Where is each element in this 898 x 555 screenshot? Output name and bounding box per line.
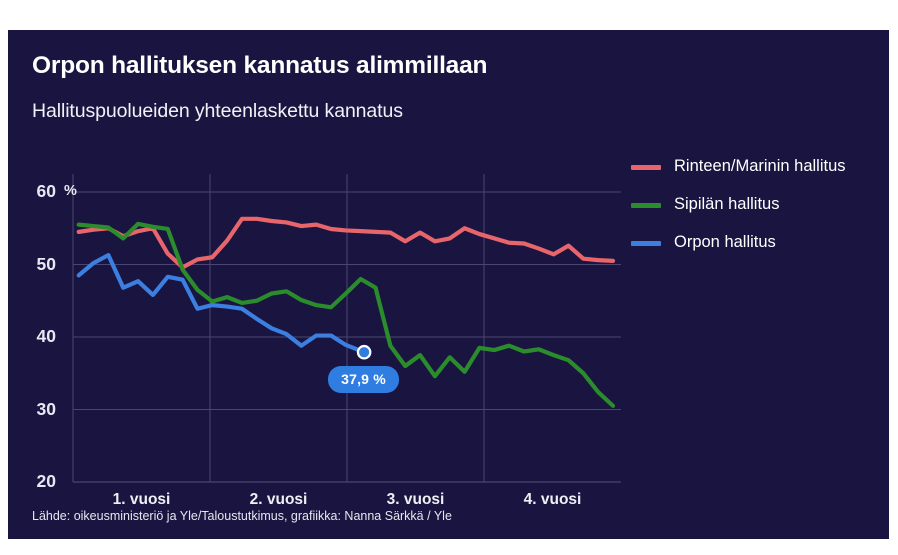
- legend-item: Rinteen/Marinin hallitus: [631, 156, 886, 177]
- legend-swatch-sipilan: [631, 203, 661, 208]
- legend-label-orpon: Orpon hallitus: [674, 232, 776, 253]
- legend-item: Orpon hallitus: [631, 232, 886, 253]
- y-axis-tick-50: 50: [12, 254, 56, 275]
- y-axis-tick-40: 40: [12, 326, 56, 347]
- source-credit: Lähde: oikeusministeriö ja Yle/Taloustut…: [32, 509, 452, 523]
- legend: Rinteen/Marinin hallitus Sipilän hallitu…: [631, 156, 886, 270]
- chart-subtitle: Hallituspuolueiden yhteenlaskettu kannat…: [32, 100, 403, 123]
- x-axis-tick-4: 4. vuosi: [493, 491, 613, 509]
- x-axis-tick-2: 2. vuosi: [219, 491, 339, 509]
- legend-label-sipilan: Sipilän hallitus: [674, 194, 779, 215]
- y-axis-tick-30: 30: [12, 399, 56, 420]
- y-axis-tick-60: 60: [12, 181, 56, 202]
- legend-swatch-orpon: [631, 241, 661, 246]
- page-title: Orpon hallituksen kannatus alimmillaan: [32, 52, 487, 80]
- chart-screenshot: Orpon hallituksen kannatus alimmillaan H…: [0, 0, 898, 555]
- x-axis-tick-1: 1. vuosi: [82, 491, 202, 509]
- chart-panel: Orpon hallituksen kannatus alimmillaan H…: [8, 30, 889, 539]
- y-axis-unit-label: %: [64, 183, 77, 199]
- legend-item: Sipilän hallitus: [631, 194, 886, 215]
- data-label-callout: 37,9 %: [328, 366, 399, 393]
- legend-swatch-rinteen-marinin: [631, 165, 661, 170]
- legend-label-rinteen-marinin: Rinteen/Marinin hallitus: [674, 156, 846, 177]
- y-axis-tick-20: 20: [12, 471, 56, 492]
- x-axis-tick-3: 3. vuosi: [356, 491, 476, 509]
